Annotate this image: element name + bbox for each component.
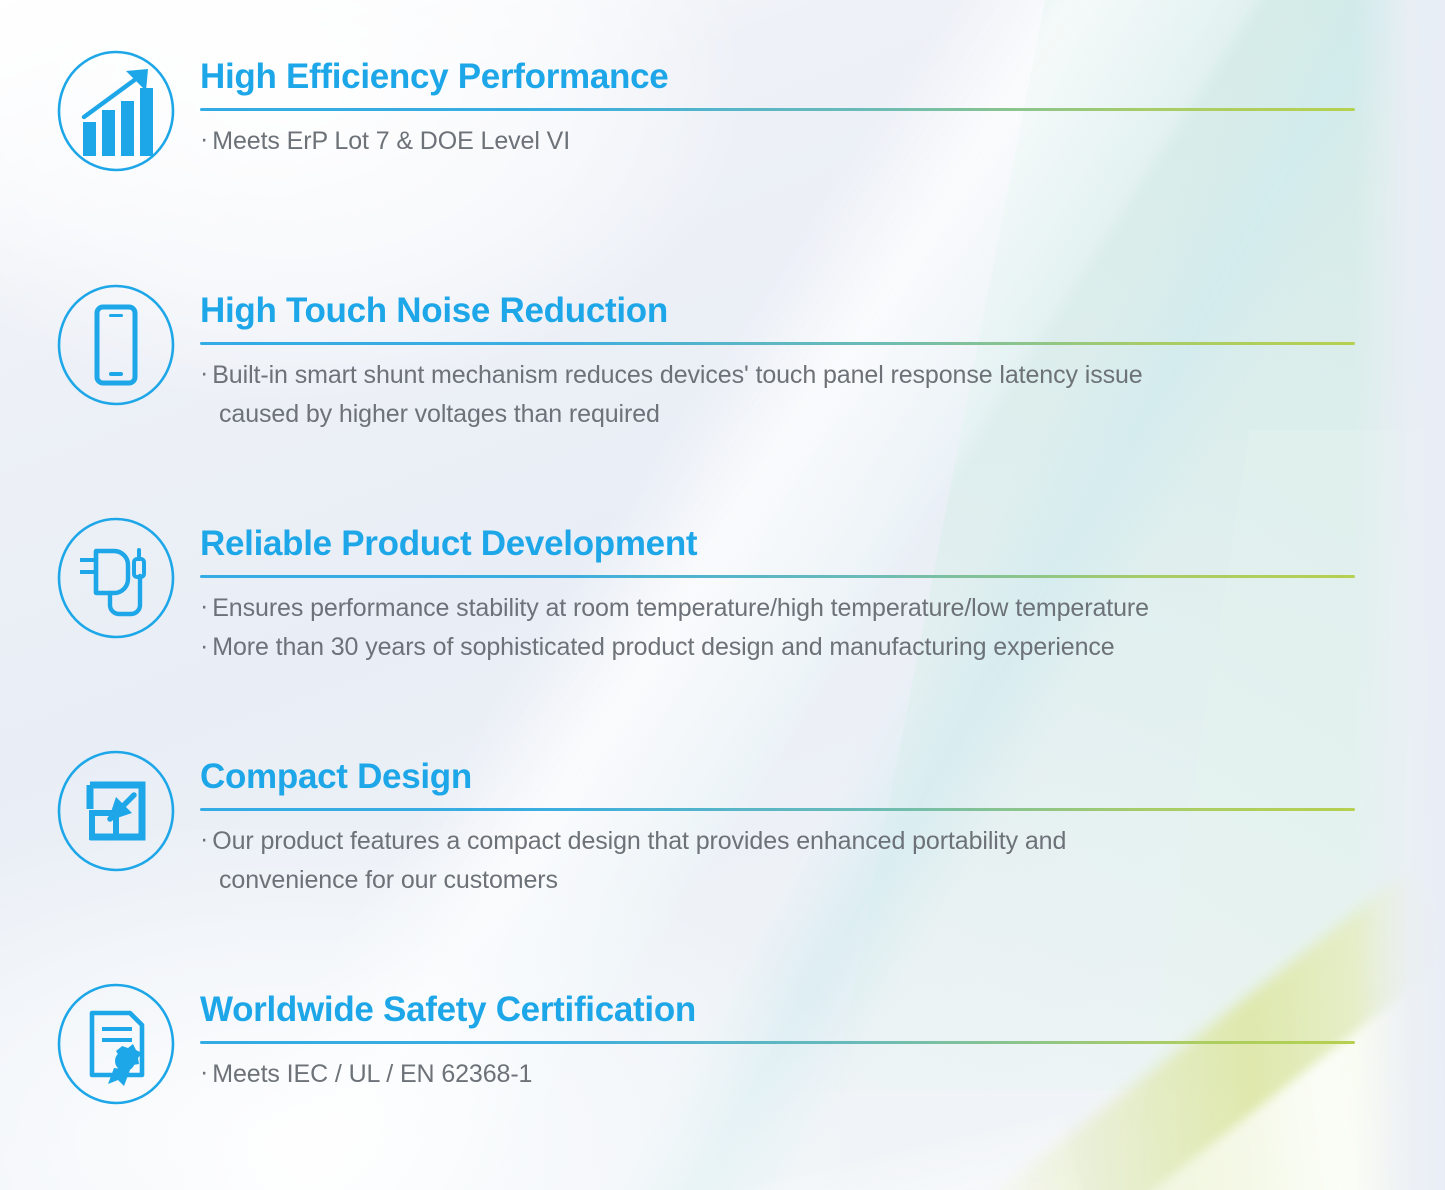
feature-item-high-touch-noise-reduction: High Touch Noise Reduction ·Built-in sma… xyxy=(52,281,1355,433)
feature-bullets: ·Our product features a compact design t… xyxy=(200,822,1355,899)
feature-divider xyxy=(200,1041,1355,1044)
bullet-text: Meets IEC / UL / EN 62368-1 xyxy=(212,1060,532,1088)
feature-bullets: ·Ensures performance stability at room t… xyxy=(200,589,1355,668)
feature-title: Reliable Product Development xyxy=(200,524,1355,564)
bullet-line: ·Our product features a compact design t… xyxy=(200,822,1355,861)
feature-divider xyxy=(200,108,1355,111)
feature-item-high-efficiency-performance: High Efficiency Performance ·Meets ErP L… xyxy=(52,47,1355,175)
bullet-marker: · xyxy=(200,587,208,625)
bullet-marker: · xyxy=(200,820,208,858)
bullet-text: Our product features a compact design th… xyxy=(212,827,1066,855)
feature-item-compact-design: Compact Design ·Our product features a c… xyxy=(52,747,1355,899)
bullet-line-continuation: convenience for our customers xyxy=(200,861,1355,899)
bullet-text: More than 30 years of sophisticated prod… xyxy=(212,633,1114,661)
feature-title: Compact Design xyxy=(200,757,1355,797)
bullet-text: Ensures performance stability at room te… xyxy=(212,594,1149,622)
smartphone-icon xyxy=(52,281,180,409)
bullet-marker: · xyxy=(200,627,208,665)
bullet-marker: · xyxy=(200,120,208,158)
compact-resize-icon xyxy=(52,747,180,875)
feature-title: High Efficiency Performance xyxy=(200,57,1355,97)
certificate-seal-icon xyxy=(52,980,180,1108)
bullet-line: ·Ensures performance stability at room t… xyxy=(200,589,1355,628)
bullet-line: ·Built-in smart shunt mechanism reduces … xyxy=(200,356,1355,395)
feature-bullets: ·Built-in smart shunt mechanism reduces … xyxy=(200,356,1355,433)
bullet-line: ·More than 30 years of sophisticated pro… xyxy=(200,628,1355,667)
bullet-marker: · xyxy=(200,1053,208,1091)
bullet-marker: · xyxy=(200,354,208,392)
feature-item-reliable-product-development: Reliable Product Development ·Ensures pe… xyxy=(52,514,1355,668)
bar-chart-growth-icon xyxy=(52,47,180,175)
feature-bullets: ·Meets ErP Lot 7 & DOE Level VI xyxy=(200,122,1355,161)
bullet-text: Meets ErP Lot 7 & DOE Level VI xyxy=(212,127,570,155)
features-list: High Efficiency Performance ·Meets ErP L… xyxy=(0,0,1445,1190)
bullet-text: Built-in smart shunt mechanism reduces d… xyxy=(212,361,1142,389)
bullet-line-continuation: caused by higher voltages than required xyxy=(200,395,1355,433)
bullet-line: ·Meets IEC / UL / EN 62368-1 xyxy=(200,1055,1355,1094)
feature-item-worldwide-safety-certification: Worldwide Safety Certification ·Meets IE… xyxy=(52,980,1355,1108)
power-adapter-icon xyxy=(52,514,180,642)
feature-bullets: ·Meets IEC / UL / EN 62368-1 xyxy=(200,1055,1355,1094)
feature-title: High Touch Noise Reduction xyxy=(200,291,1355,331)
feature-divider xyxy=(200,342,1355,345)
bullet-line: ·Meets ErP Lot 7 & DOE Level VI xyxy=(200,122,1355,161)
feature-divider xyxy=(200,808,1355,811)
feature-divider xyxy=(200,575,1355,578)
feature-title: Worldwide Safety Certification xyxy=(200,990,1355,1030)
